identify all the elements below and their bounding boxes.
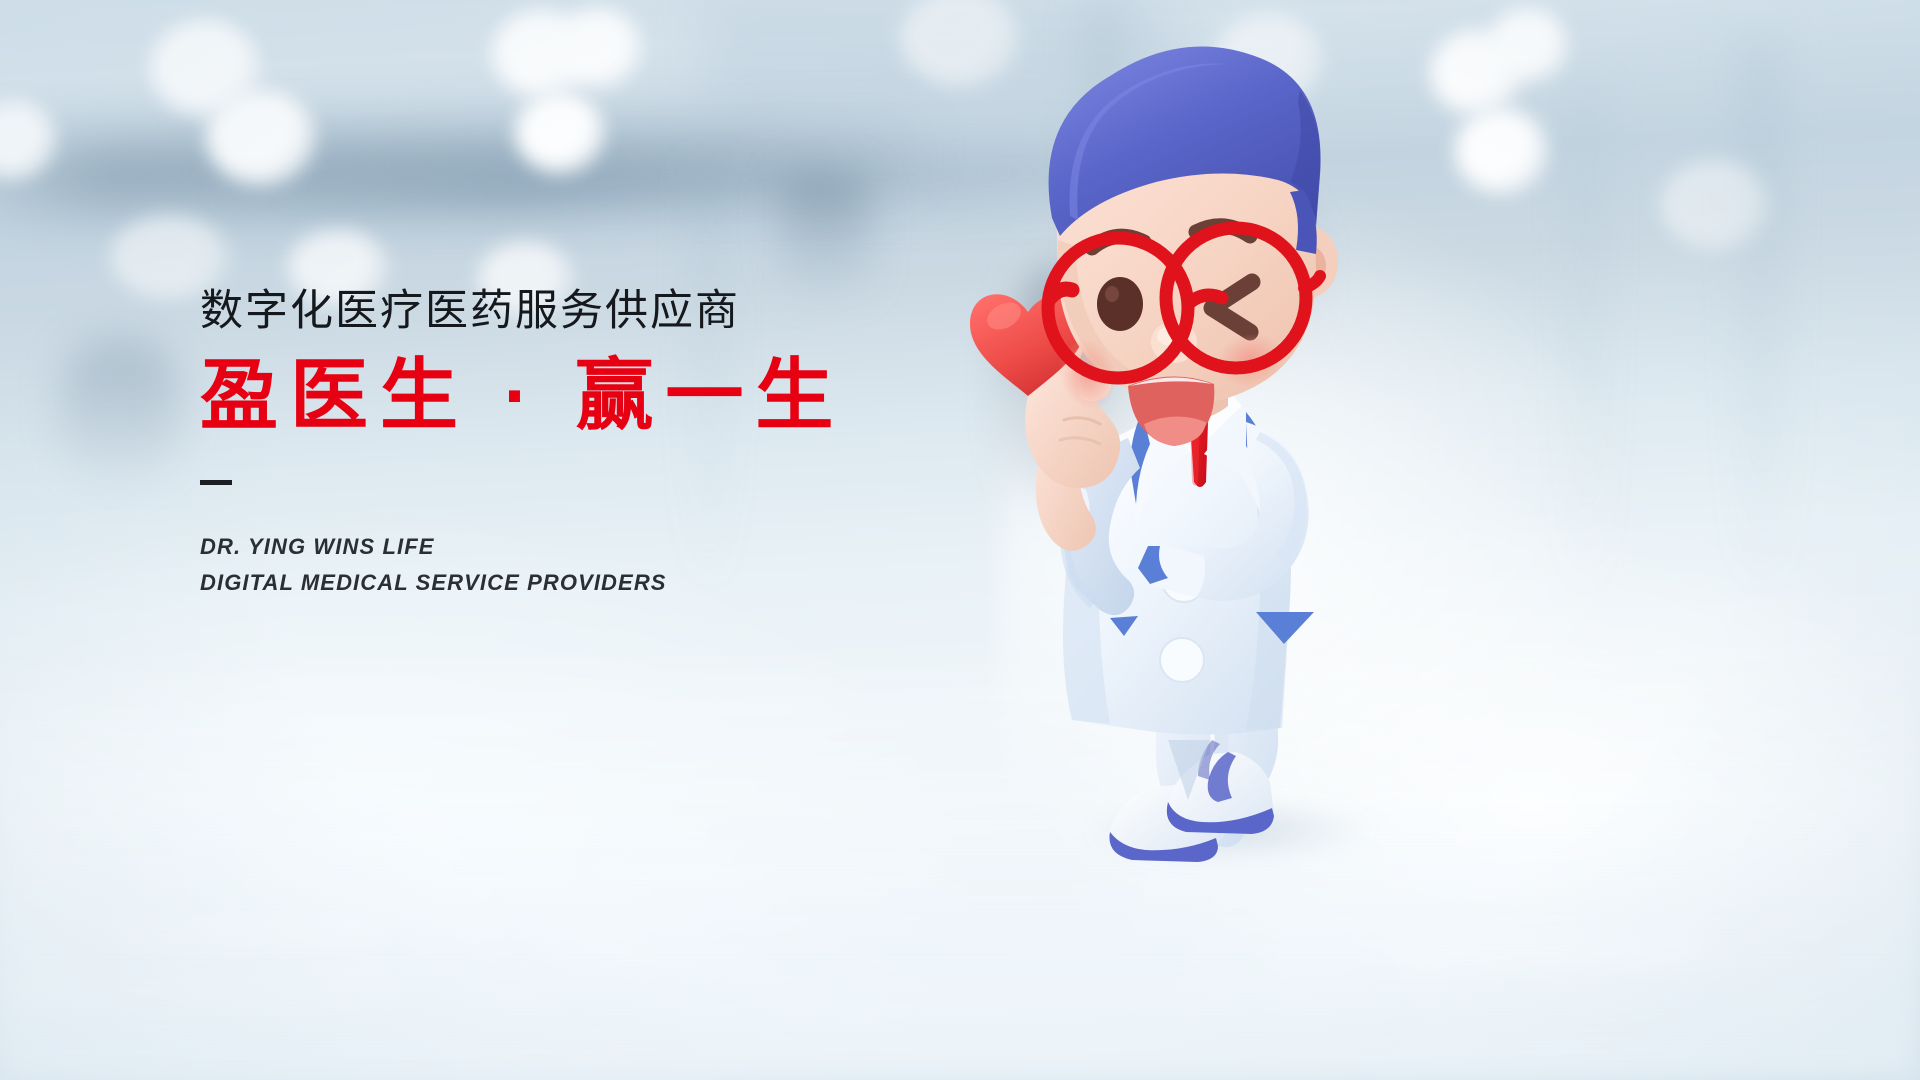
ceiling-light-bokeh [206, 90, 316, 186]
ceiling-light-bokeh [515, 92, 605, 174]
page-title: 盈医生 · 赢一生 [200, 353, 980, 437]
floor-highlight [1400, 944, 1720, 960]
distant-equipment-blur [60, 340, 180, 480]
open-eye [1097, 277, 1143, 331]
english-tagline-line1: DR. YING WINS LIFE [200, 529, 980, 565]
ceiling-light-bokeh [1660, 160, 1770, 250]
pillar-blur-3 [1745, 40, 1779, 600]
subheading: 数字化医疗医药服务供应商 [200, 288, 980, 335]
floor-highlight [600, 868, 940, 880]
hero-copy-block: 数字化医疗医药服务供应商 盈医生 · 赢一生 DR. YING WINS LIF… [200, 288, 980, 601]
divider-rule [200, 480, 232, 485]
floor-highlight [0, 982, 400, 1000]
english-tagline: DR. YING WINS LIFE DIGITAL MEDICAL SERVI… [200, 529, 980, 602]
hero-banner: 数字化医疗医药服务供应商 盈医生 · 赢一生 DR. YING WINS LIF… [0, 0, 1920, 1080]
floor-highlight [120, 926, 380, 940]
distant-object-blur [780, 175, 870, 295]
english-tagline-line2: DIGITAL MEDICAL SERVICE PROVIDERS [200, 565, 980, 601]
doctor-mascot [960, 40, 1580, 860]
ceiling-light-bokeh [555, 8, 641, 88]
